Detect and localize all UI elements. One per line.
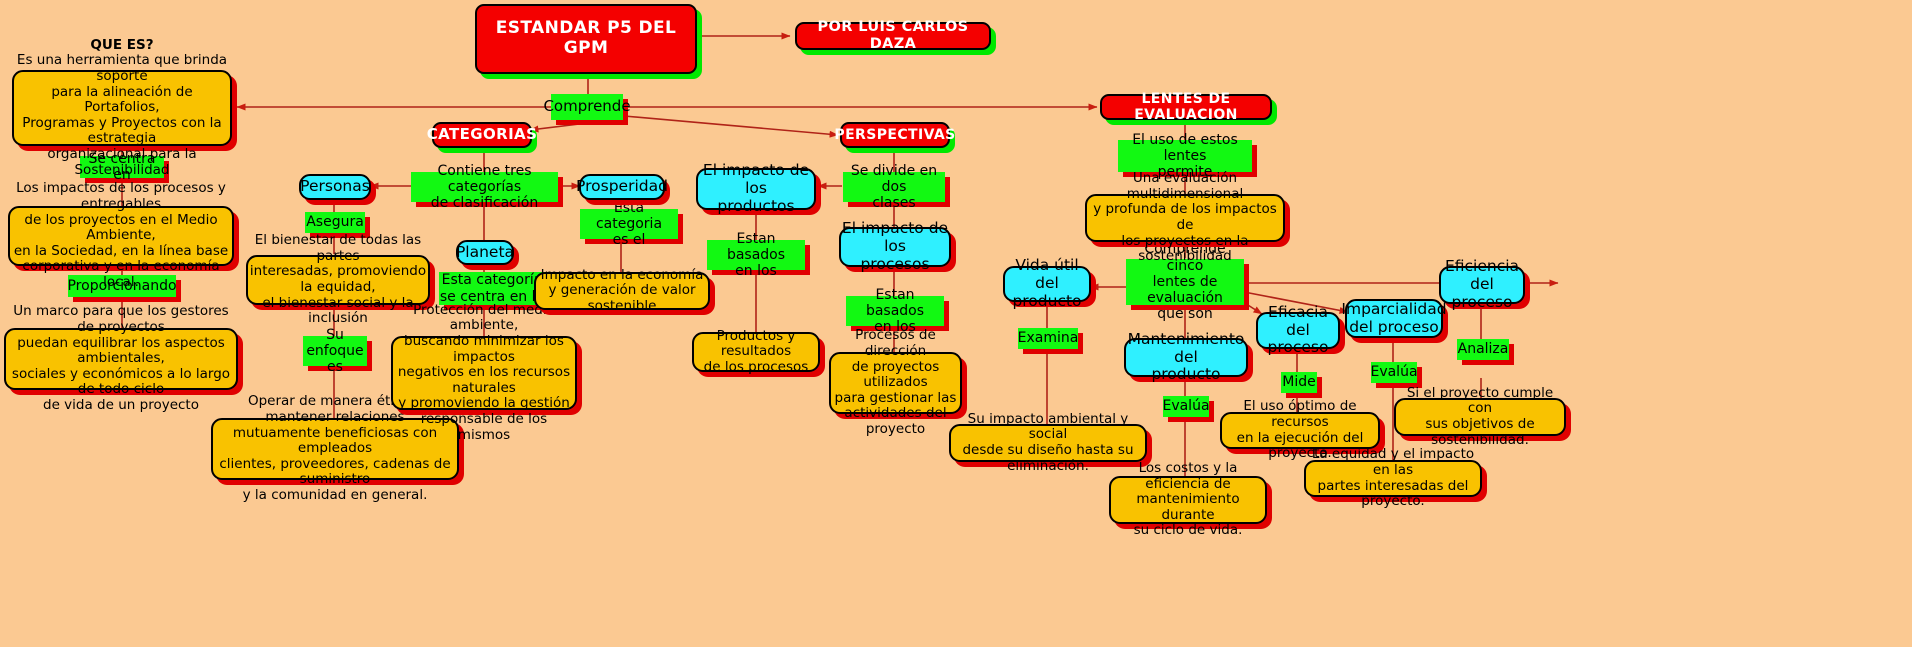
linker-examina[interactable]: Examina xyxy=(1018,328,1078,349)
linker-mide[interactable]: Mide xyxy=(1281,372,1317,393)
linker-estan-basados-en-los-2[interactable]: Estan basados en los xyxy=(846,296,944,326)
linker-comprende-cinco-lentes[interactable]: Comprende cinco lentes de evaluación que… xyxy=(1126,259,1244,305)
que-es-heading: QUE ES? xyxy=(90,38,153,54)
node-uso-optimo-recursos[interactable]: El uso óptimo de recursos en la ejecució… xyxy=(1220,412,1380,449)
concept-map-canvas: ESTANDAR P5 DEL GPM POR LUIS CARLOS DAZA… xyxy=(0,0,1912,647)
linker-esta-categoria-es-el[interactable]: Esta categoria es el xyxy=(580,209,678,239)
node-equidad-impacto[interactable]: La equidad y el impacto en las partes in… xyxy=(1304,460,1482,497)
linker-estan-basados-en-los-1[interactable]: Estan basados en los xyxy=(707,240,805,270)
node-marco-gestores[interactable]: Un marco para que los gestores de proyec… xyxy=(4,328,238,390)
node-bienestar-partes-interesadas[interactable]: El bienestar de todas las partes interes… xyxy=(246,255,430,305)
node-planeta[interactable]: Planeta xyxy=(456,240,514,265)
node-personas[interactable]: Personas xyxy=(299,174,371,200)
node-categorias[interactable]: CATEGORIAS xyxy=(432,122,532,148)
linker-evalua-2[interactable]: Evalúa xyxy=(1371,362,1417,383)
node-impacto-economia[interactable]: Impacto en la economía y generación de v… xyxy=(534,272,710,310)
node-eficiencia-del-proceso[interactable]: Eficiencia del proceso xyxy=(1439,266,1525,304)
node-impactos-procesos-entregables[interactable]: Los impactos de los procesos y entregabl… xyxy=(8,206,234,266)
node-evaluacion-multidimensional[interactable]: Una evaluación multidimensional y profun… xyxy=(1085,194,1285,242)
node-proteccion-medio-ambiente[interactable]: Protección del medio ambiente, buscando … xyxy=(391,336,577,410)
node-productos-resultados[interactable]: Productos y resultados de los procesos xyxy=(692,332,820,372)
linker-evalua-1[interactable]: Evalúa xyxy=(1163,396,1209,417)
linker-analiza[interactable]: Analiza xyxy=(1457,339,1509,360)
node-imparcialidad-del-proceso[interactable]: Imparcialidad del proceso xyxy=(1345,299,1443,338)
linker-esta-categoria-se-centra-en-la[interactable]: Esta categoría se centra en la xyxy=(439,272,545,305)
node-author[interactable]: POR LUIS CARLOS DAZA xyxy=(795,22,991,50)
node-que-es[interactable]: QUE ES? Es una herramienta que brinda so… xyxy=(12,70,232,146)
que-es-body: Es una herramienta que brinda soporte pa… xyxy=(14,53,230,178)
node-lentes-de-evaluacion[interactable]: LENTES DE EVALUACION xyxy=(1100,94,1272,120)
linker-asegura[interactable]: Asegura xyxy=(305,212,365,233)
node-costos-eficiencia[interactable]: Los costos y la eficiencia de mantenimie… xyxy=(1109,476,1267,524)
node-root-title[interactable]: ESTANDAR P5 DEL GPM xyxy=(475,4,697,74)
node-impacto-productos[interactable]: El impacto de los productos xyxy=(696,168,816,210)
linker-se-divide-en-dos-clases[interactable]: Se divide en dos clases xyxy=(843,172,945,202)
linker-comprende[interactable]: Comprende xyxy=(551,94,623,120)
node-perspectivas[interactable]: PERSPECTIVAS xyxy=(840,122,950,148)
node-vida-util-del-producto[interactable]: Vida útil del producto xyxy=(1003,266,1091,302)
linker-su-enfoque-es[interactable]: Su enfoque es xyxy=(303,336,367,366)
node-mantenimiento-del-producto[interactable]: Mantenimiento del producto xyxy=(1124,338,1248,377)
node-impacto-ambiental-social[interactable]: Su impacto ambiental y social desde su d… xyxy=(949,424,1147,462)
node-procesos-direccion[interactable]: Procesos de dirección de proyectos utili… xyxy=(829,352,962,414)
node-prosperidad[interactable]: Prosperidad xyxy=(579,174,665,200)
linker-contiene-tres-categorias[interactable]: Contiene tres categorías de clasificació… xyxy=(411,172,558,202)
node-cumple-objetivos[interactable]: Si el proyecto cumple con sus objetivos … xyxy=(1394,398,1566,436)
node-impacto-procesos[interactable]: El impacto de los procesos xyxy=(839,227,951,267)
linker-el-uso-de-estos-lentes-permite[interactable]: El uso de estos lentes permite xyxy=(1118,140,1252,172)
node-eficacia-del-proceso[interactable]: Eficacia del proceso xyxy=(1256,312,1340,349)
